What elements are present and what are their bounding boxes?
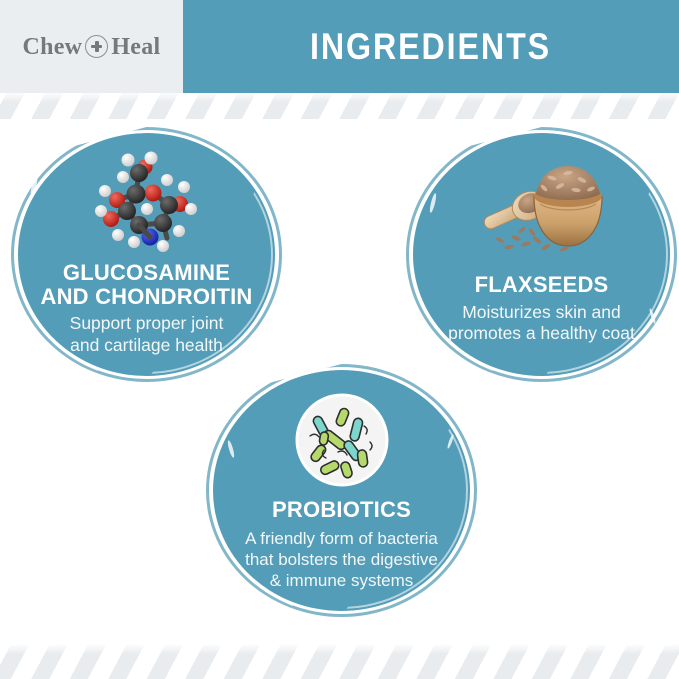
stripe-fade [0,93,679,102]
ingredient-description: A friendly form of bacteria that bolster… [233,528,450,591]
ingredient-desc-line1: A friendly form of bacteria [245,528,438,549]
circled-plus-icon [85,35,108,58]
title-panel: INGREDIENTS [183,0,679,93]
brush-speck [250,159,257,171]
page-title: INGREDIENTS [310,26,551,68]
ingredient-title-line1: PROBIOTICS [272,498,411,522]
infographic-stage: Chew Heal INGREDIENTS [0,0,679,679]
ingredient-title-line2: AND CHONDROITIN [41,285,253,309]
stripe-fade [0,645,679,654]
ingredient-description: Support proper joint and cartilage healt… [58,313,236,356]
ingredient-card-glucosamine: GLUCOSAMINE AND CHONDROITIN Support prop… [18,133,275,376]
header-bar: Chew Heal INGREDIENTS [0,0,679,93]
ingredient-title-line1: GLUCOSAMINE [41,261,253,285]
brush-speck [447,434,455,449]
glucosamine-molecule-icon [87,145,207,257]
ingredient-title: FLAXSEEDS [469,273,615,297]
ingredient-desc-line1: Support proper joint [70,313,224,335]
flaxseed-bowl-icon [476,149,608,261]
ingredient-title: GLUCOSAMINE AND CHONDROITIN [35,261,259,308]
logo-panel: Chew Heal [0,0,183,93]
ingredient-card-probiotics: PROBIOTICS A friendly form of bacteria t… [213,370,470,611]
ingredient-desc-line1: Moisturizes skin and [448,302,635,324]
ingredient-desc-line2: that bolsters the digestive [245,549,438,570]
logo-word-heal: Heal [111,35,160,59]
probiotic-bacteria-icon [294,390,390,490]
stripe-divider-top [0,93,679,119]
ingredient-title: PROBIOTICS [266,498,417,522]
stripe-divider-bottom [0,645,679,679]
ingredient-desc-line3: & immune systems [245,570,438,591]
ingredient-desc-line2: promotes a healthy coat [448,323,635,345]
ingredient-card-flaxseeds: FLAXSEEDS Moisturizes skin and promotes … [413,133,670,376]
brush-speck [649,308,657,324]
brand-logo: Chew Heal [22,35,160,59]
ingredient-desc-line2: and cartilage health [70,335,224,357]
brush-speck [227,440,236,458]
ingredient-title-line1: FLAXSEEDS [475,273,609,297]
ingredient-description: Moisturizes skin and promotes a healthy … [436,302,647,345]
logo-word-chew: Chew [22,35,82,59]
brush-speck [429,193,438,213]
brush-speck [29,177,38,195]
